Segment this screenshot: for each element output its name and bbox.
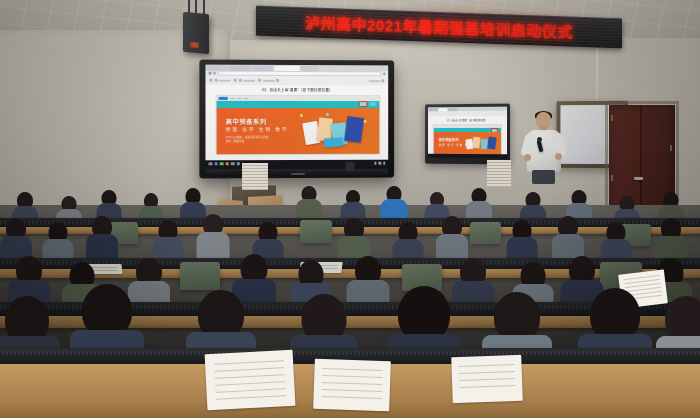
ribbon-label — [219, 79, 231, 81]
ribbon-icon[interactable] — [214, 79, 217, 82]
student — [466, 188, 492, 222]
monitor-document-heading: 问：自由长上每“重要”（如下图红框位置） — [433, 118, 502, 122]
student — [296, 186, 322, 220]
illustration-book — [324, 137, 343, 147]
microphone-head — [537, 137, 542, 142]
desktop-monitor[interactable]: 问：自由长上每“重要”（如下图红框位置） 高中预备系列 物理 化学 生物 数学 — [425, 104, 510, 165]
hero-title: 高中预备系列 — [226, 116, 267, 125]
ribbon-icon[interactable] — [258, 79, 261, 82]
browser-icon[interactable] — [214, 162, 218, 166]
site-nav-item — [244, 97, 249, 99]
ribbon-label — [262, 79, 274, 81]
chair-back — [300, 220, 332, 243]
door-hinge — [611, 175, 613, 181]
network-icon[interactable] — [374, 162, 376, 164]
browser-address-bar[interactable] — [205, 71, 388, 77]
student — [196, 214, 229, 262]
illustration-book — [472, 136, 480, 148]
sparkle-icon — [326, 113, 329, 116]
monitor-taskbar[interactable] — [428, 154, 507, 159]
ribbon-icon[interactable] — [234, 79, 237, 82]
monitor-hero-illustration — [464, 134, 498, 152]
open-notebook — [313, 359, 391, 412]
windows-taskbar[interactable] — [205, 160, 388, 168]
highlighted-nav-chip — [359, 101, 368, 106]
student — [86, 216, 118, 262]
book-stack — [242, 163, 268, 189]
illustration-book — [344, 115, 364, 142]
browser-tab[interactable] — [207, 66, 227, 71]
nav-chip — [369, 102, 376, 105]
site-nav-item — [237, 97, 242, 99]
door-hinge — [611, 115, 613, 121]
hero-illustration — [296, 111, 373, 151]
sparkle-icon — [300, 114, 303, 117]
presenter — [524, 112, 564, 184]
document-heading: 问：自由长上每“重要”（如下图红框位置） — [216, 88, 379, 93]
ribbon-icon[interactable] — [238, 79, 241, 82]
menu-icon[interactable] — [383, 73, 385, 75]
chair-back — [470, 222, 501, 244]
open-notebook — [205, 350, 296, 411]
clock[interactable] — [383, 162, 385, 164]
ribbon-icon[interactable] — [381, 79, 384, 82]
promo-hero-banner: 高中预备系列 物理 化学 生物 数学 8700元10课时，适用高考新学习必修 预… — [217, 107, 380, 153]
panel-screen[interactable]: 问：自由长上每“重要”（如下图红框位置） 高中预备系列 物理 化 — [205, 65, 388, 168]
site-logo — [219, 97, 228, 100]
taskbar-system-tray[interactable] — [374, 162, 385, 165]
browser-tab[interactable] — [448, 108, 457, 111]
book-stack — [487, 160, 511, 188]
monitor-screen[interactable]: 问：自由长上每“重要”（如下图红框位置） 高中预备系列 物理 化学 生物 数学 — [428, 107, 507, 159]
app-icon[interactable] — [236, 162, 240, 166]
monitor-stand — [346, 162, 355, 171]
ribbon-icon[interactable] — [210, 79, 213, 82]
hero-note-line2: 预约：限量开放 — [226, 140, 244, 144]
monitor-hero-title: 高中预备系列 — [439, 136, 459, 141]
ribbon-group[interactable] — [368, 79, 384, 82]
door-hinge — [670, 145, 672, 151]
app-icon[interactable] — [220, 162, 224, 166]
illustration-book — [487, 136, 497, 149]
ribbon-group[interactable] — [258, 79, 279, 82]
monitor-promo-hero: 高中预备系列 物理 化学 生物 数学 — [434, 131, 501, 155]
app-icon[interactable] — [231, 162, 235, 166]
ribbon-label — [368, 80, 380, 82]
ceiling-speaker — [183, 12, 209, 54]
start-icon[interactable] — [209, 162, 213, 166]
classroom-photo: 泸州高中2021年暑期强基培训启动仪式 — [0, 0, 700, 418]
back-icon[interactable] — [209, 72, 212, 75]
ribbon-group[interactable] — [234, 79, 255, 82]
panel-brand-logo — [291, 173, 305, 175]
student — [436, 216, 468, 262]
browser-tab[interactable] — [429, 108, 438, 111]
url-input[interactable] — [218, 71, 381, 76]
browser-tab-active[interactable] — [439, 108, 448, 111]
hero-subtitle: 物理 化学 生物 数学 — [226, 127, 289, 133]
site-nav-item — [230, 97, 235, 99]
embedded-web-screenshot: 高中预备系列 物理 化学 生物 数学 8700元10课时，适用高考新学习必修 预… — [216, 95, 381, 155]
ribbon-group[interactable] — [210, 79, 231, 82]
led-banner-text: 泸州高中2021年暑期强基培训启动仪式 — [305, 12, 573, 42]
chair-back — [180, 262, 220, 290]
forward-icon[interactable] — [213, 72, 216, 75]
ribbon-label — [243, 79, 255, 81]
presenter-hand — [555, 153, 562, 160]
app-icon[interactable] — [225, 162, 229, 166]
ribbon-icon[interactable] — [276, 79, 279, 82]
presenter-lower-body — [532, 170, 555, 184]
sparkle-icon — [364, 119, 367, 122]
presenter-hand — [524, 154, 531, 161]
monitor-document: 问：自由长上每“重要”（如下图红框位置） 高中预备系列 物理 化学 生物 数学 — [428, 116, 507, 154]
document-body[interactable]: 问：自由长上每“重要”（如下图红框位置） 高中预备系列 物理 化 — [205, 85, 388, 161]
monitor-web-card: 高中预备系列 物理 化学 生物 数学 — [433, 123, 502, 156]
door-handle[interactable] — [634, 177, 643, 180]
student — [380, 186, 407, 222]
interactive-flat-panel[interactable]: 问：自由长上每“重要”（如下图红框位置） 高中预备系列 物理 化 — [199, 60, 394, 179]
taskbar-app-icons[interactable] — [209, 162, 240, 166]
open-notebook — [451, 355, 523, 403]
speaker-cone — [190, 41, 199, 48]
volume-icon[interactable] — [378, 162, 380, 164]
